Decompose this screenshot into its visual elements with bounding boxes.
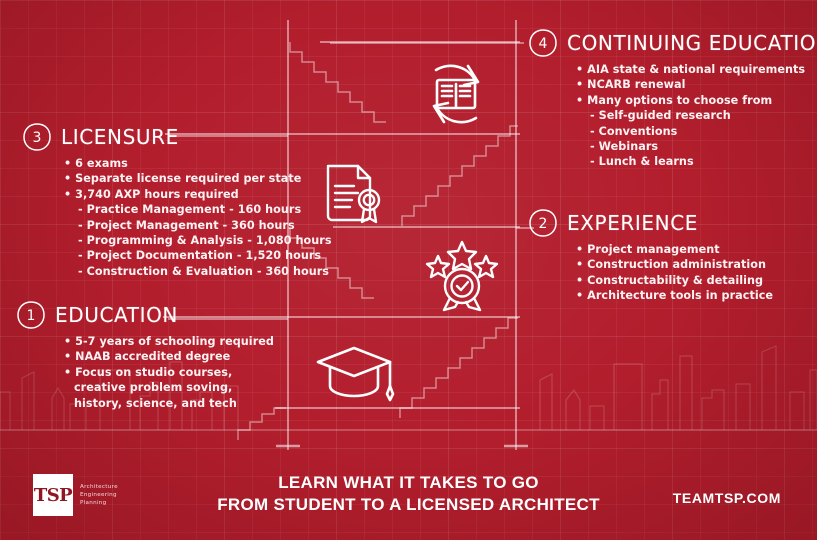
infographic-poster: 4 CONTINUING EDUCATION AIA state & natio… [0, 0, 817, 540]
step-number-circle: 4 [528, 28, 558, 58]
step-number: 2 [539, 216, 548, 232]
award-badge-icon [427, 242, 497, 310]
book-refresh-icon [434, 66, 478, 122]
list-item: Project Management - 360 hours [64, 218, 332, 233]
step-number-circle: 1 [16, 300, 46, 330]
list-item: Practice Management - 160 hours [64, 202, 332, 217]
step-number-circle: 2 [528, 208, 558, 238]
certificate-icon [328, 166, 379, 222]
section-title: LICENSURE [61, 125, 179, 149]
section-title: EXPERIENCE [567, 211, 698, 235]
list-item: Construction administration [576, 257, 773, 272]
website-url[interactable]: TEAMTSP.COM [673, 490, 781, 506]
list-item: Separate license required per state [64, 171, 332, 186]
section-heading: 1 EDUCATION [16, 300, 274, 330]
list-item: 3,740 AXP hours required [64, 187, 332, 202]
list-item: Webinars [576, 139, 817, 154]
section-continuing-education: 4 CONTINUING EDUCATION AIA state & natio… [528, 28, 817, 170]
list-item: creative problem soving, [64, 380, 274, 395]
list-item: Focus on studio courses, [64, 365, 274, 380]
footer-bar: TSP Architecture Engineering Planning LE… [0, 462, 817, 540]
section-bullet-list: AIA state & national requirements NCARB … [576, 62, 817, 170]
list-item: 5-7 years of schooling required [64, 334, 274, 349]
section-bullet-list: 5-7 years of schooling required NAAB acc… [64, 334, 274, 411]
section-education: 1 EDUCATION 5-7 years of schooling requi… [16, 300, 274, 411]
section-heading: 2 EXPERIENCE [528, 208, 773, 238]
section-licensure: 3 LICENSURE 6 exams Separate license req… [22, 122, 332, 279]
list-item: AIA state & national requirements [576, 62, 817, 77]
list-item: Project management [576, 242, 773, 257]
step-number: 4 [539, 36, 548, 52]
section-heading: 3 LICENSURE [22, 122, 332, 152]
section-bullet-list: 6 exams Separate license required per st… [64, 156, 332, 279]
list-item: Self-guided research [576, 108, 817, 123]
section-heading: 4 CONTINUING EDUCATION [528, 28, 817, 58]
list-item: Project Documentation - 1,520 hours [64, 248, 332, 263]
list-item: Programming & Analysis - 1,080 hours [64, 233, 332, 248]
list-item: Architecture tools in practice [576, 288, 773, 303]
section-experience: 2 EXPERIENCE Project management Construc… [528, 208, 773, 304]
step-number: 3 [33, 130, 42, 146]
section-title: CONTINUING EDUCATION [567, 31, 817, 55]
list-item: Construction & Evaluation - 360 hours [64, 264, 332, 279]
graduation-cap-icon [318, 348, 393, 400]
list-item: 6 exams [64, 156, 332, 171]
list-item: NAAB accredited degree [64, 349, 274, 364]
section-bullet-list: Project management Construction administ… [576, 242, 773, 304]
list-item: NCARB renewal [576, 77, 817, 92]
list-item: Lunch & learns [576, 154, 817, 169]
list-item: Conventions [576, 124, 817, 139]
list-item: Constructability & detailing [576, 273, 773, 288]
step-number: 1 [27, 308, 36, 324]
list-item: history, science, and tech [64, 396, 274, 411]
section-title: EDUCATION [55, 303, 178, 327]
list-item: Many options to choose from [576, 93, 817, 108]
step-number-circle: 3 [22, 122, 52, 152]
